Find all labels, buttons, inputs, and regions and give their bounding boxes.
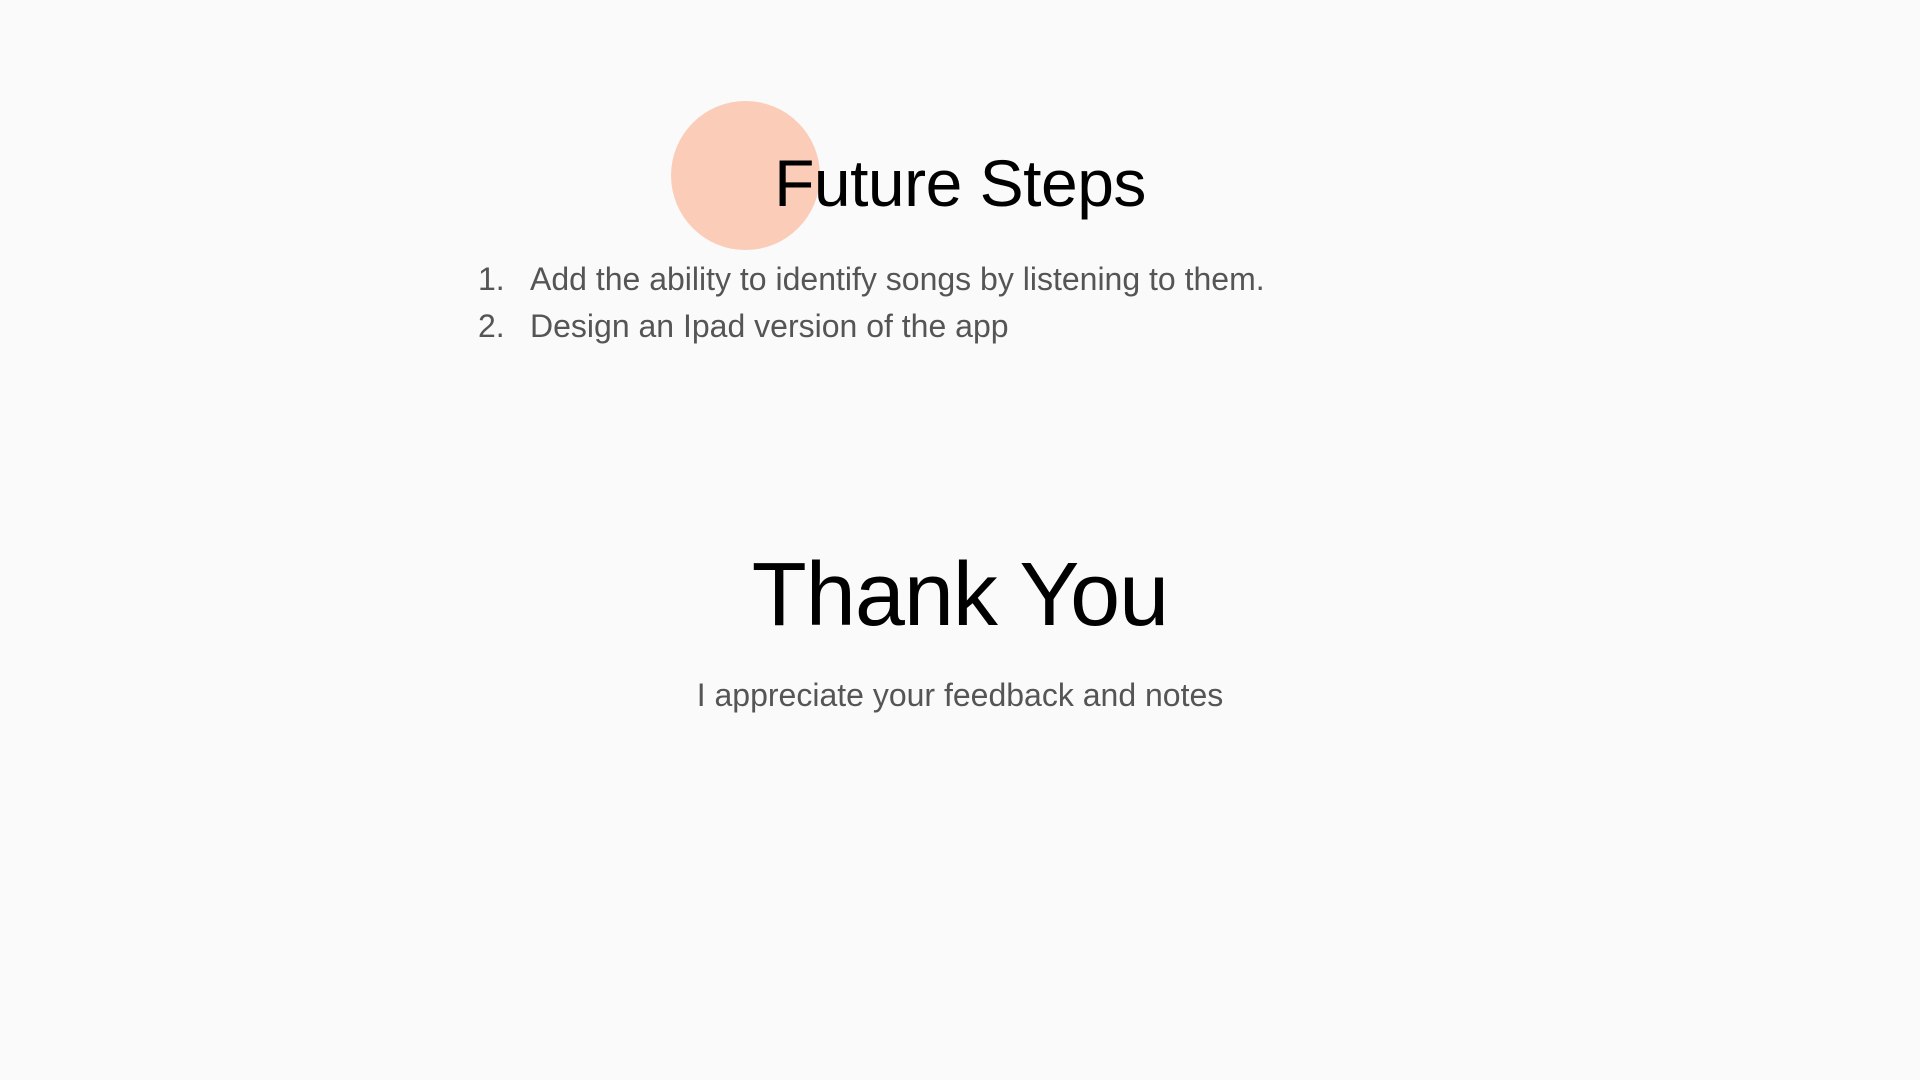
- list-item-marker: 2.: [478, 303, 530, 350]
- list-item: 1. Add the ability to identify songs by …: [478, 256, 1265, 303]
- list-item-label: Add the ability to identify songs by lis…: [530, 256, 1265, 303]
- presentation-slide: Future Steps 1. Add the ability to ident…: [0, 0, 1920, 1080]
- list-item-marker: 1.: [478, 256, 530, 303]
- list-item: 2. Design an Ipad version of the app: [478, 303, 1265, 350]
- future-steps-list: 1. Add the ability to identify songs by …: [478, 256, 1265, 350]
- thank-you-heading: Thank You: [0, 548, 1920, 643]
- future-steps-heading: Future Steps: [0, 148, 1920, 219]
- thank-you-subtitle: I appreciate your feedback and notes: [0, 675, 1920, 717]
- list-item-label: Design an Ipad version of the app: [530, 303, 1009, 350]
